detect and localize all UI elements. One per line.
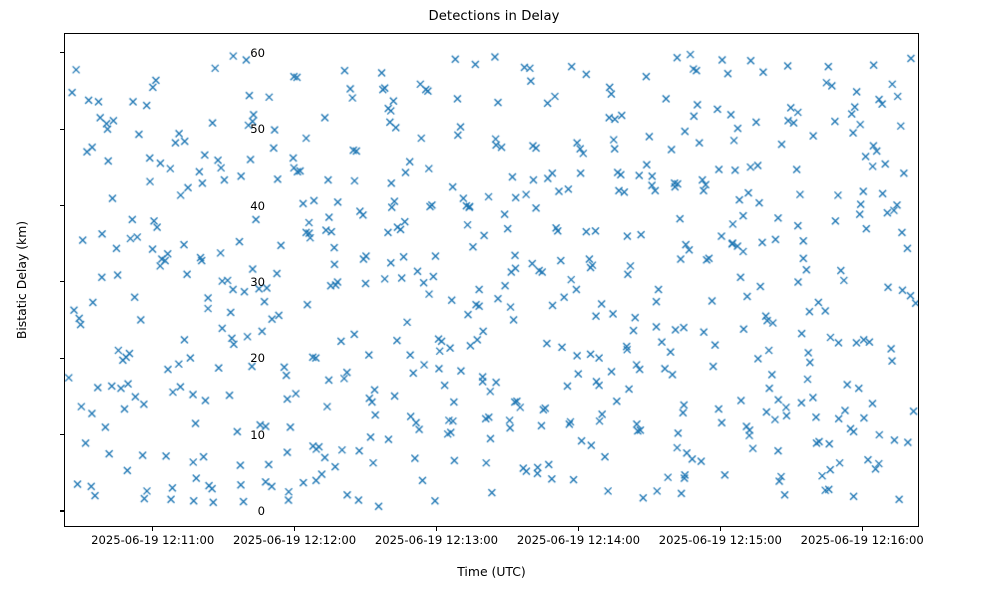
y-axis-label: Bistatic Delay (km)	[14, 33, 32, 527]
y-tick-label: 20	[250, 351, 265, 365]
x-tick-mark	[720, 527, 721, 531]
y-tick-mark	[60, 52, 64, 53]
y-tick-label: 60	[250, 46, 265, 60]
y-tick-label: 0	[258, 504, 265, 518]
y-tick-mark	[60, 358, 64, 359]
scatter-points-canvas	[65, 34, 918, 526]
y-tick-label: 50	[250, 122, 265, 136]
x-tick-label: 2025-06-19 12:15:00	[659, 533, 782, 547]
x-tick-label: 2025-06-19 12:12:00	[233, 533, 356, 547]
x-tick-label: 2025-06-19 12:11:00	[91, 533, 214, 547]
x-tick-label: 2025-06-19 12:13:00	[375, 533, 498, 547]
x-tick-mark	[152, 527, 153, 531]
y-tick-mark	[60, 510, 64, 511]
matplotlib-figure: Detections in Delay 2025-06-19 12:11:002…	[0, 0, 988, 590]
y-tick-mark	[60, 281, 64, 282]
y-tick-label: 30	[250, 275, 265, 289]
x-tick-label: 2025-06-19 12:14:00	[517, 533, 640, 547]
y-tick-mark	[60, 205, 64, 206]
x-tick-mark	[862, 527, 863, 531]
x-tick-mark	[436, 527, 437, 531]
y-tick-label: 10	[250, 428, 265, 442]
x-tick-label: 2025-06-19 12:16:00	[801, 533, 924, 547]
x-axis-label: Time (UTC)	[64, 564, 919, 579]
y-tick-mark	[60, 434, 64, 435]
chart-title: Detections in Delay	[0, 9, 988, 24]
y-tick-label: 40	[250, 199, 265, 213]
plot-area	[64, 33, 919, 527]
x-tick-mark	[294, 527, 295, 531]
y-tick-mark	[60, 129, 64, 130]
x-tick-mark	[578, 527, 579, 531]
